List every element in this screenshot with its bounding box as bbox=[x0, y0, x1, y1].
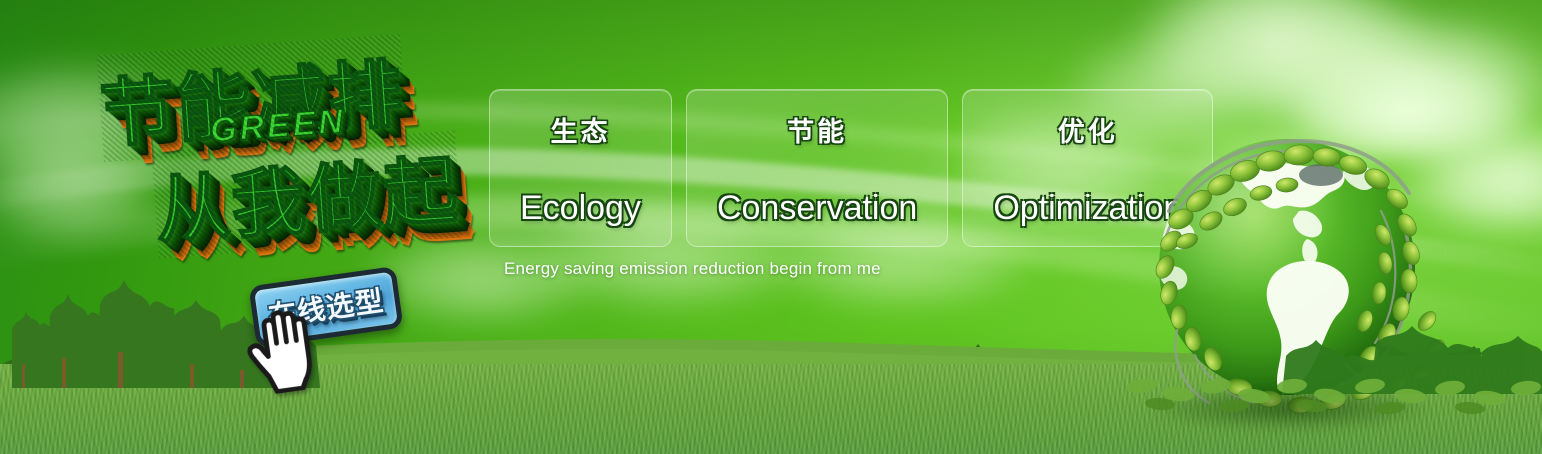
leaf-ground-cover bbox=[1122, 342, 1542, 414]
feature-card-cn-label: 生态 bbox=[550, 110, 610, 149]
headline-3d-title: 节能减排 GREEN 从我做起 bbox=[84, 20, 500, 287]
feature-card-cn-label: 节能 bbox=[787, 110, 847, 149]
pointing-hand-cursor-icon bbox=[240, 301, 327, 397]
feature-cards: 生态 Ecology 节能 Conservation 优化 Optimizati… bbox=[489, 89, 1213, 247]
feature-card-conservation[interactable]: 节能 Conservation bbox=[686, 89, 948, 247]
feature-card-cn-label: 优化 bbox=[1058, 110, 1118, 149]
eco-banner: 节能减排 GREEN 从我做起 在线选型 生态 Ecology 节能 Conse… bbox=[0, 0, 1542, 454]
headline-line-2: 从我做起 bbox=[152, 131, 463, 259]
feature-card-ecology[interactable]: 生态 Ecology bbox=[489, 89, 672, 247]
banner-subtitle: Energy saving emission reduction begin f… bbox=[504, 259, 881, 279]
feature-card-en-label: Ecology bbox=[520, 189, 641, 228]
feature-card-en-label: Conservation bbox=[717, 189, 917, 228]
